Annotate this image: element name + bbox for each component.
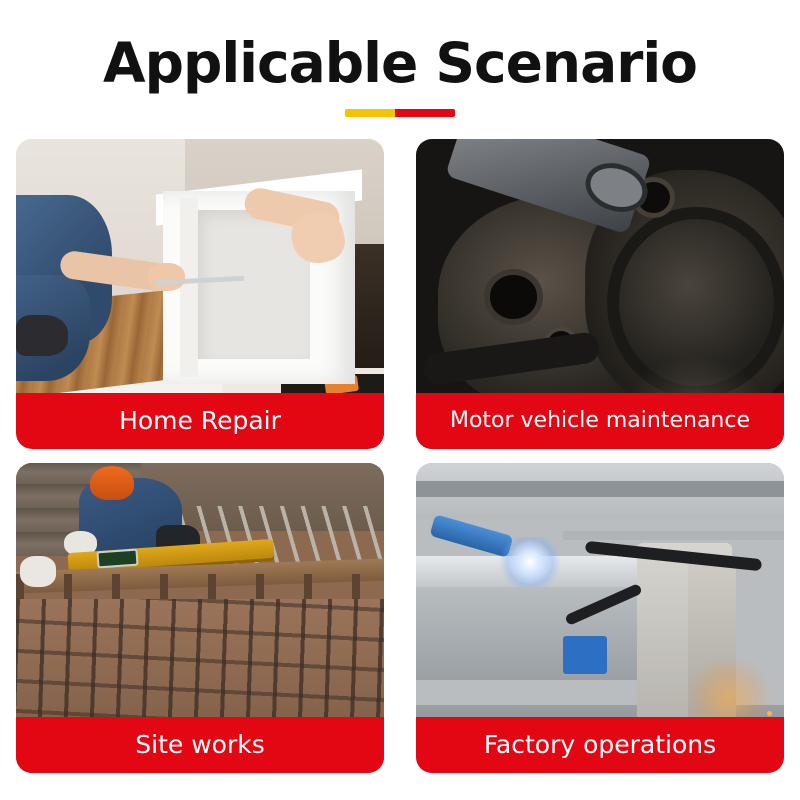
scenario-card-factory-operations[interactable]: Factory operations <box>416 463 784 773</box>
applicable-scenario-page: Applicable Scenario <box>0 0 800 800</box>
page-title: Applicable Scenario <box>0 0 800 93</box>
scenario-card-motor-vehicle-maintenance[interactable]: Motor vehicle maintenance <box>416 139 784 449</box>
scenario-card-home-repair[interactable]: Home Repair <box>16 139 384 449</box>
title-divider <box>345 109 455 117</box>
scenario-card-site-works[interactable]: Site works <box>16 463 384 773</box>
scenario-grid: Home Repair Motor vehicle maintenance <box>16 139 784 773</box>
scenario-caption-site-works: Site works <box>16 717 384 773</box>
scenario-caption-home-repair: Home Repair <box>16 393 384 449</box>
scenario-caption-motor-vehicle-maintenance: Motor vehicle maintenance <box>416 393 784 449</box>
scenario-caption-factory-operations: Factory operations <box>416 717 784 773</box>
divider-red-segment <box>395 109 456 117</box>
divider-yellow-segment <box>345 109 395 117</box>
